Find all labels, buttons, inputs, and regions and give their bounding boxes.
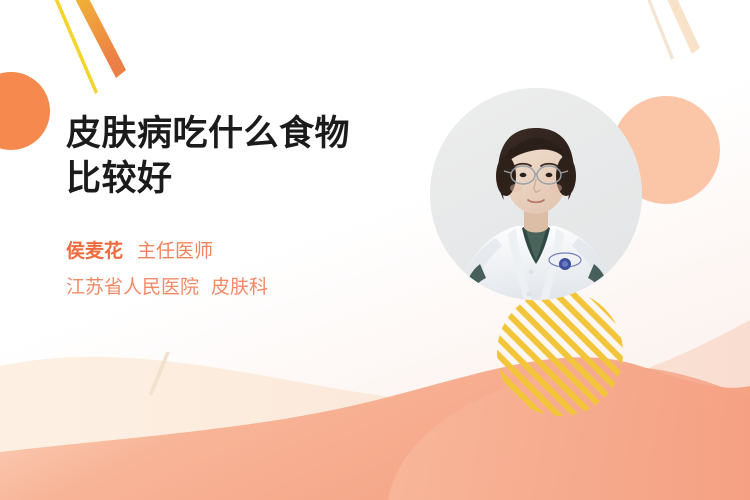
department-name: 皮肤科	[211, 276, 268, 298]
orange-circle-icon	[0, 72, 50, 150]
striped-circle-icon	[497, 290, 623, 416]
doctor-portrait	[430, 88, 642, 300]
video-thumbnail-card: 皮肤病吃什么食物 比较好 侯麦花主任医师 江苏省人民医院皮肤科	[0, 0, 750, 500]
doctor-byline: 侯麦花主任医师	[66, 236, 426, 266]
doctor-affiliation: 江苏省人民医院皮肤科	[66, 272, 426, 302]
diagonal-stripes-topleft-icon	[26, 0, 146, 96]
text-content: 皮肤病吃什么食物 比较好 侯麦花主任医师 江苏省人民医院皮肤科	[66, 112, 426, 302]
doctor-name: 侯麦花	[66, 240, 123, 262]
page-title: 皮肤病吃什么食物 比较好	[66, 112, 426, 202]
hospital-name: 江苏省人民医院	[66, 276, 199, 298]
doctor-title: 主任医师	[137, 240, 213, 262]
diagonal-stripes-topright-icon	[618, 0, 738, 86]
doctor-portrait-illustration	[430, 88, 642, 300]
diagonal-line-accent-icon	[140, 352, 200, 412]
